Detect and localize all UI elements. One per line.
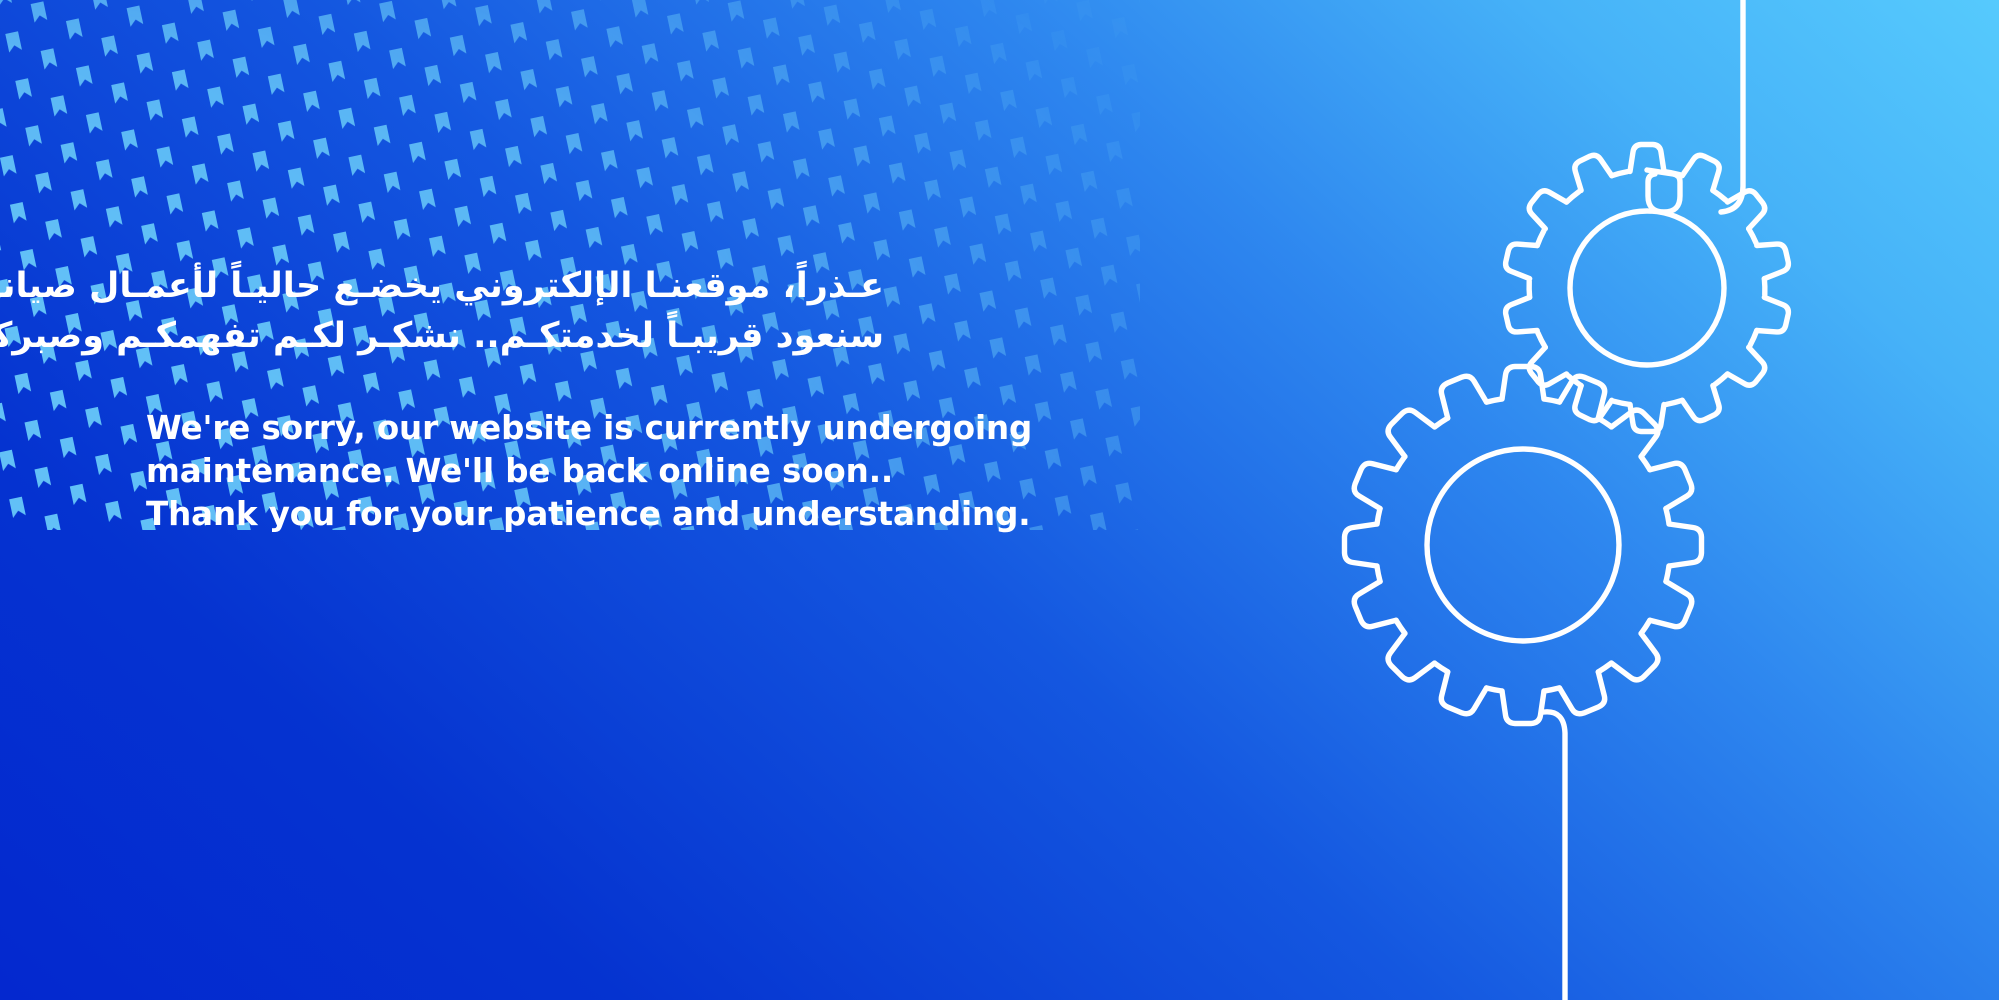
gear-small-icon xyxy=(1503,145,1790,432)
english-line-1: We're sorry, our website is currently un… xyxy=(146,407,1146,450)
english-line-3: Thank you for your patience and understa… xyxy=(146,493,1146,536)
maintenance-page: عـذراً، موقعنـا الإلكتروني يخضـع حاليـاً… xyxy=(0,0,1999,1000)
english-message: We're sorry, our website is currently un… xyxy=(146,407,1146,535)
gear-bottom-connector-line xyxy=(1544,712,1565,1000)
gear-artwork xyxy=(999,0,1999,1000)
arabic-line-2: سنعود قريبـاً لخدمتكـم.. نشكـر لكـم تفهم… xyxy=(146,312,884,362)
gear-small-hub xyxy=(1570,211,1724,365)
gear-top-connector-line xyxy=(1721,0,1743,212)
arabic-line-1: عـذراً، موقعنـا الإلكتروني يخضـع حاليـاً… xyxy=(146,262,884,312)
arabic-message: عـذراً، موقعنـا الإلكتروني يخضـع حاليـاً… xyxy=(146,262,884,361)
maintenance-message: عـذراً، موقعنـا الإلكتروني يخضـع حاليـاً… xyxy=(146,262,1146,535)
english-line-2: maintenance. We'll be back online soon.. xyxy=(146,450,1146,493)
gear-large-hub xyxy=(1427,449,1619,641)
gear-large-icon xyxy=(1345,367,1702,724)
